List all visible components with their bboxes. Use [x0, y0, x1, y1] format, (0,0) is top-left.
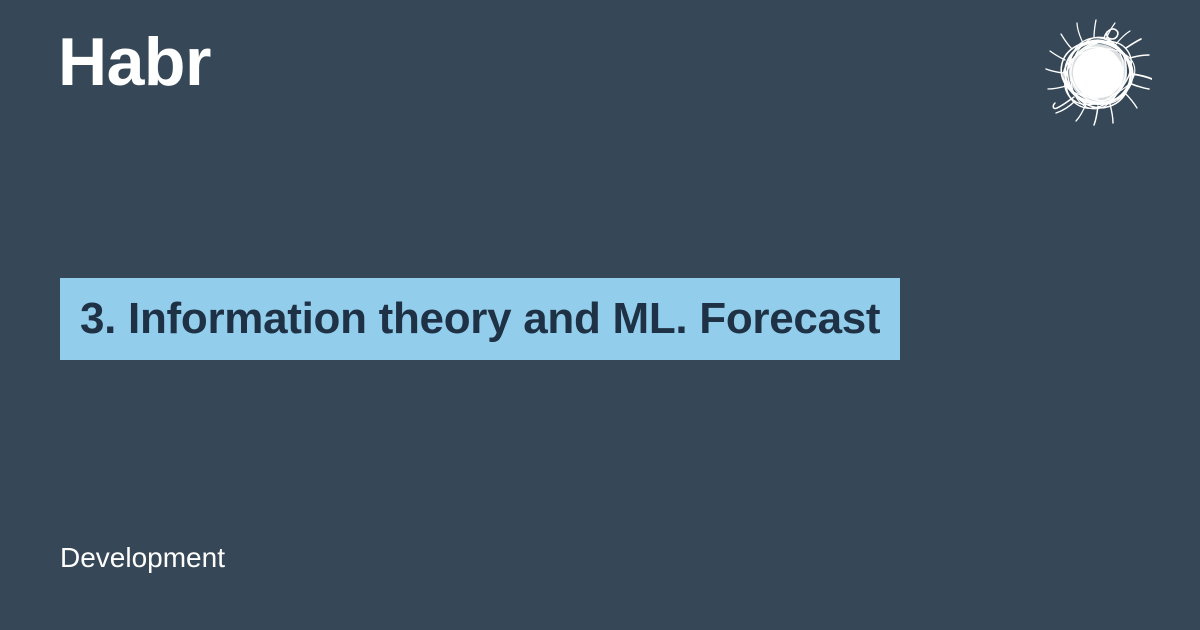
hub-label: Development — [60, 541, 225, 575]
page-title: 3. Information theory and ML. Forecast — [60, 278, 900, 360]
social-preview-card: Habr — [0, 0, 1200, 630]
habr-wordmark: Habr — [58, 28, 211, 96]
habr-scribble-ball-icon — [1044, 18, 1152, 126]
post-title-container: 3. Information theory and ML. Forecast — [0, 278, 1200, 365]
